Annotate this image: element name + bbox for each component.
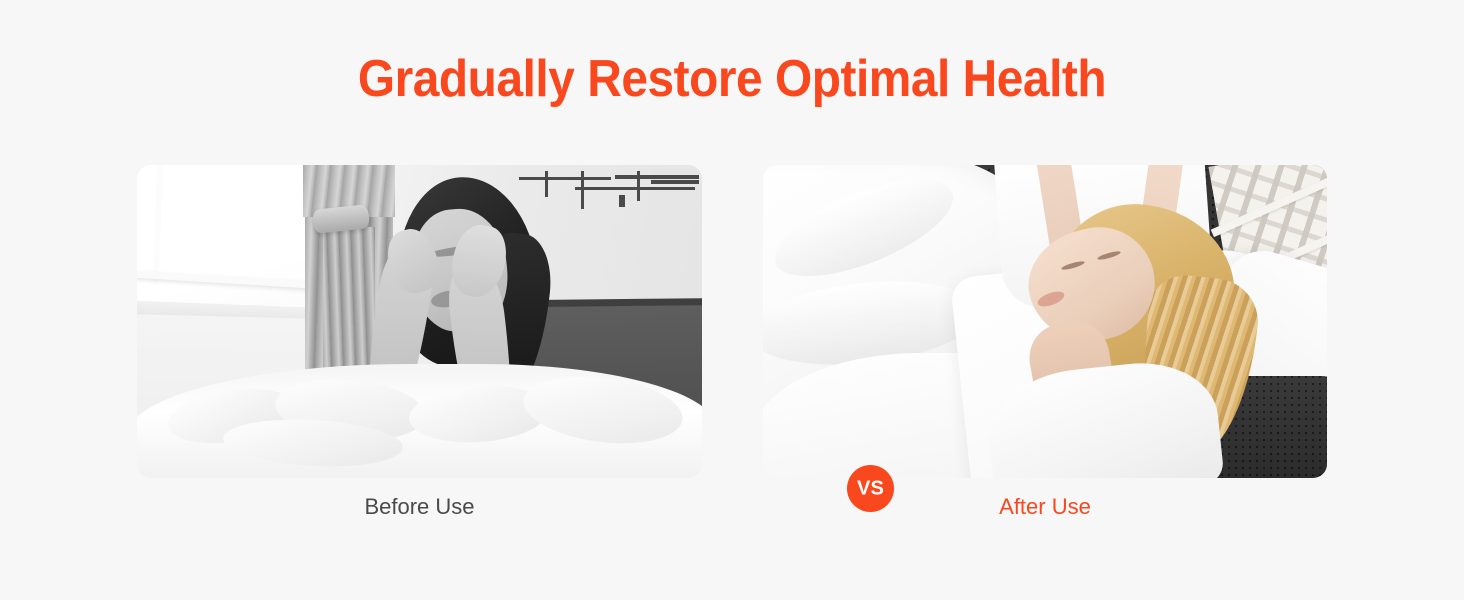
before-caption: Before Use (137, 492, 702, 522)
vs-badge: VS (847, 465, 894, 512)
vs-badge-label: VS (857, 478, 884, 498)
after-person (1013, 165, 1313, 478)
before-photo (137, 165, 702, 478)
page-title: Gradually Restore Optimal Health (59, 48, 1406, 110)
before-after-comparison: VS (137, 165, 1327, 478)
after-photo (763, 165, 1327, 478)
before-bedding (137, 364, 702, 478)
promo-banner: Gradually Restore Optimal Health (0, 0, 1464, 600)
after-image-panel (763, 165, 1327, 478)
before-image-panel (137, 165, 702, 478)
